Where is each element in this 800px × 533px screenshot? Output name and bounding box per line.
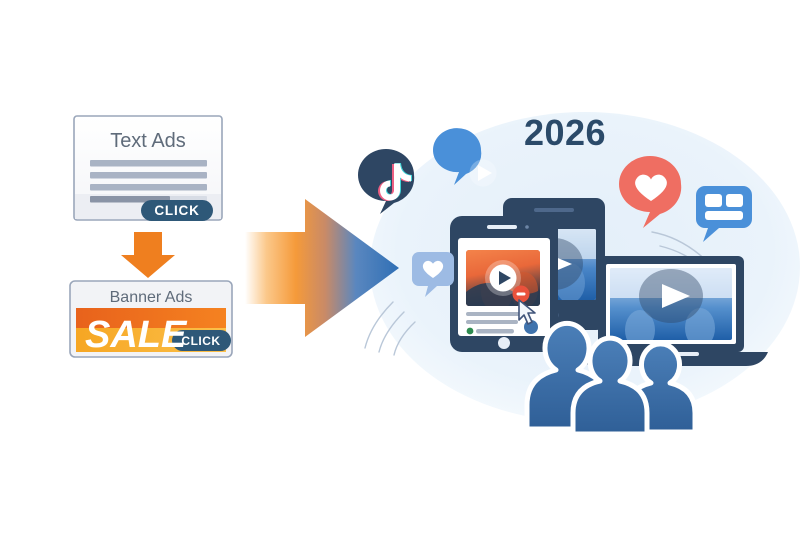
phone-device[interactable]: [450, 216, 558, 352]
banner-click-label: CLICK: [181, 334, 220, 348]
arrow-right-icon: [245, 199, 399, 337]
text-ads-click-label: CLICK: [154, 203, 199, 218]
text-ads-title: Text Ads: [110, 130, 186, 152]
year-label: 2026: [524, 112, 606, 153]
illustration-canvas: Text Ads CLICK Banner Ads SALE CLICK: [0, 0, 800, 533]
banner-ads-title: Banner Ads: [110, 289, 193, 306]
arrow-down-icon: [121, 232, 175, 278]
scene-svg: Text Ads CLICK Banner Ads SALE CLICK: [0, 0, 800, 533]
notification-badge-icon: [513, 286, 530, 303]
banner-sale-text: SALE: [85, 314, 188, 356]
play-icon: [470, 160, 497, 187]
laptop-play-icon[interactable]: [639, 269, 703, 323]
